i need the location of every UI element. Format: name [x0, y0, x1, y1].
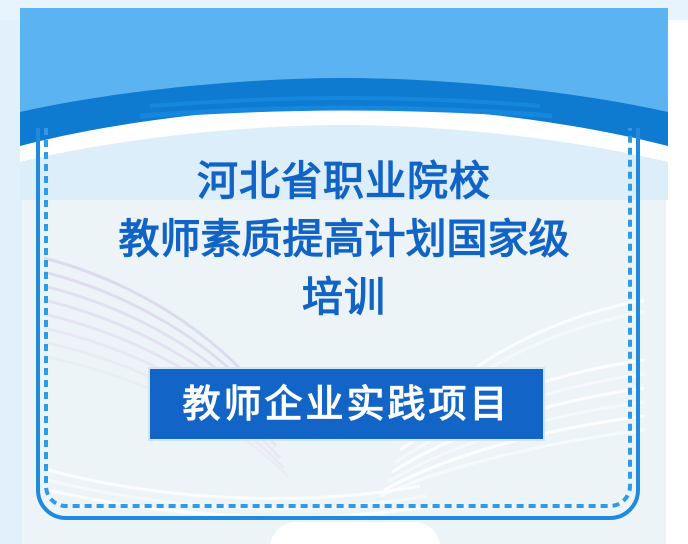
title-line-1: 河北省职业院校 [54, 152, 634, 210]
project-banner-label: 教师企业实践项目 [182, 385, 510, 423]
project-banner: 教师企业实践项目 [148, 367, 545, 441]
poster-title: 河北省职业院校 教师素质提高计划国家级 培训 [54, 152, 634, 326]
poster-root: 河北省职业院校 教师素质提高计划国家级 培训 教师企业实践项目 [0, 0, 688, 544]
title-line-3: 培训 [54, 268, 634, 326]
title-line-2: 教师素质提高计划国家级 [54, 210, 634, 268]
bottom-accent-tab [270, 522, 440, 544]
